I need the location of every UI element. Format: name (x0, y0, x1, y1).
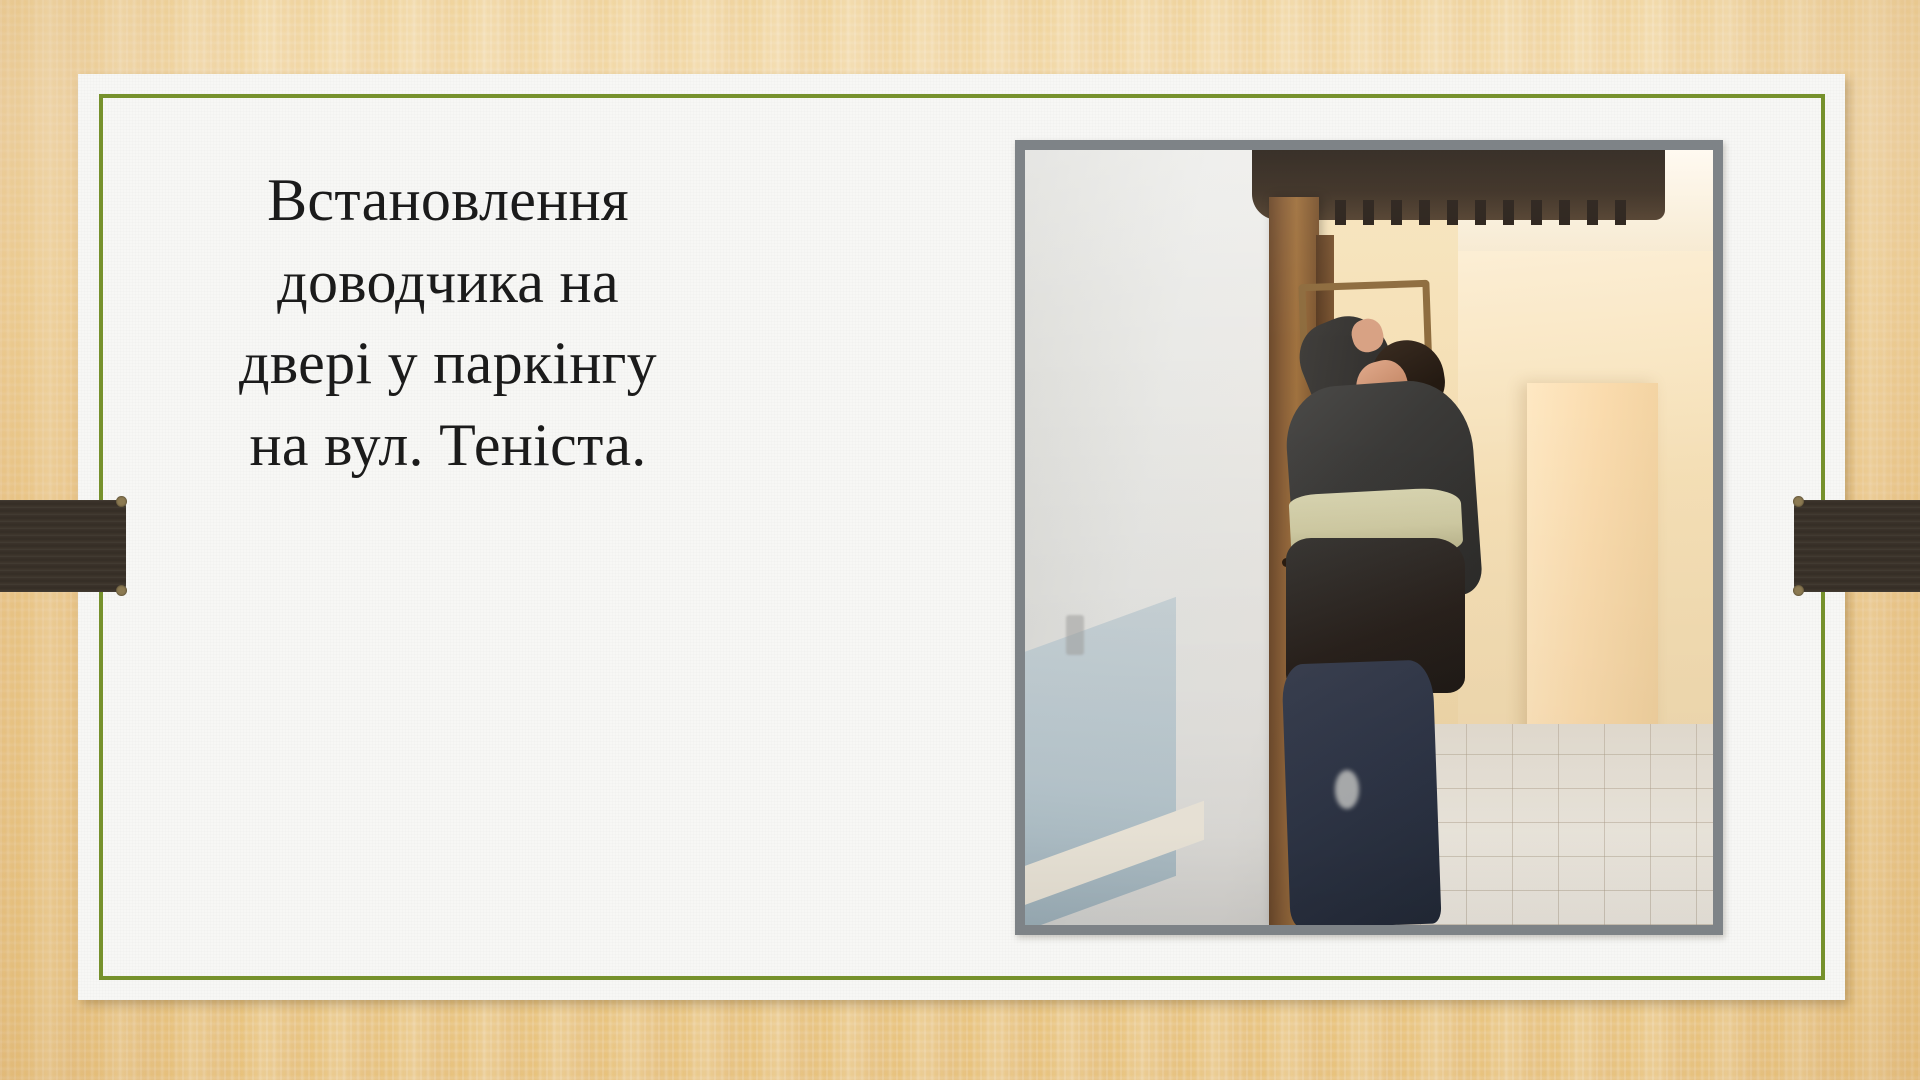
photo-frame (1015, 140, 1723, 935)
photo-worker-trousers (1282, 659, 1442, 925)
slide-title-line-2: доводчика на (128, 242, 768, 324)
slide-title-line-1: Встановлення (128, 160, 768, 242)
photo-wall-switch (1066, 615, 1084, 655)
slide-title-line-4: на вул. Теніста. (128, 405, 768, 487)
photo-beam-detail (1307, 200, 1637, 225)
slide-stage: Встановлення доводчика на двері у паркін… (0, 0, 1920, 1080)
ribbon-cap-icon (116, 585, 127, 596)
ribbon-cap-icon (116, 496, 127, 507)
slide-title-line-3: двері у паркінгу (128, 323, 768, 405)
ribbon-cap-icon (1793, 585, 1804, 596)
photo-worker-trouser-stain (1335, 770, 1359, 809)
slide-title: Встановлення доводчика на двері у паркін… (128, 160, 768, 486)
ribbon-tab-right (1794, 500, 1920, 592)
ribbon-tab-left (0, 500, 126, 592)
photo-doorcloser-installation (1025, 150, 1713, 925)
ribbon-cap-icon (1793, 496, 1804, 507)
